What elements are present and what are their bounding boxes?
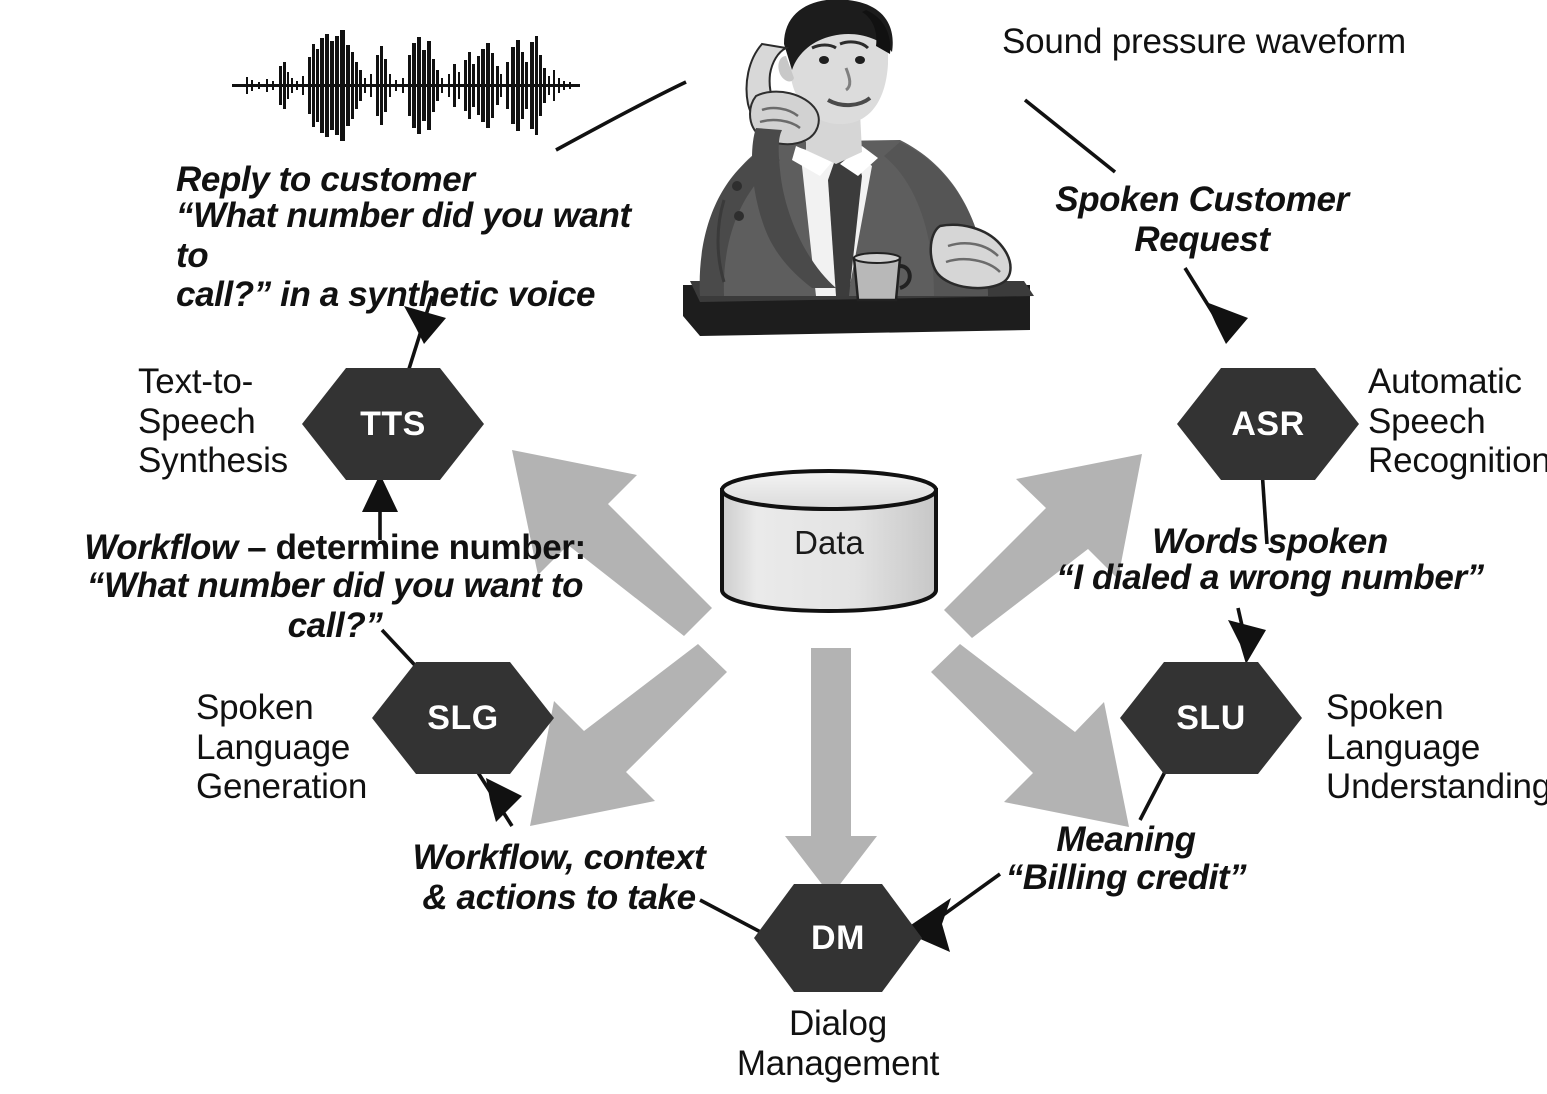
gray-arrow-data-to-slg bbox=[530, 644, 727, 826]
label-reply-to-customer-title: Reply to customer bbox=[176, 160, 646, 200]
caption-dm: Dialog Management bbox=[688, 1004, 988, 1083]
leader-meaning-to-dm bbox=[925, 874, 1000, 928]
workflow-keyword: Workflow bbox=[84, 528, 238, 567]
caption-slu: Spoken Language Understanding bbox=[1326, 688, 1541, 807]
label-meaning-body: “Billing credit” bbox=[1000, 858, 1252, 898]
node-slu[interactable]: SLU bbox=[1118, 660, 1304, 776]
node-label-tts: TTS bbox=[360, 405, 426, 444]
label-workflow-determine-number-title: Workflow – determine number: bbox=[40, 528, 630, 568]
node-slg[interactable]: SLG bbox=[370, 660, 556, 776]
node-label-dm: DM bbox=[811, 919, 865, 958]
node-label-asr: ASR bbox=[1231, 405, 1304, 444]
audio-waveform-icon bbox=[232, 30, 580, 141]
caption-slg: Spoken Language Generation bbox=[196, 688, 376, 807]
label-workflow-determine-number-body: “What number did you want to call?” bbox=[40, 566, 630, 645]
node-label-slu: SLU bbox=[1176, 699, 1246, 738]
caption-tts: Text-to- Speech Synthesis bbox=[138, 362, 308, 481]
label-meaning-title: Meaning bbox=[1000, 820, 1252, 860]
arrowhead-into-slg bbox=[486, 778, 522, 822]
arrowhead-into-asr bbox=[1206, 302, 1248, 344]
label-sound-pressure-waveform: Sound pressure waveform bbox=[1002, 22, 1422, 62]
node-asr[interactable]: ASR bbox=[1175, 366, 1361, 482]
leader-waveform-to-person bbox=[556, 82, 686, 150]
label-words-spoken-title: Words spoken bbox=[1010, 522, 1530, 562]
label-workflow-context-actions: Workflow, context & actions to take bbox=[406, 838, 712, 917]
label-words-spoken-body: “I dialed a wrong number” bbox=[1010, 558, 1530, 598]
gray-arrow-data-to-dm bbox=[785, 648, 877, 896]
caption-asr: Automatic Speech Recognition bbox=[1368, 362, 1547, 481]
diagram-canvas: Data TTS ASR SLG SLU DM Sound bbox=[0, 0, 1547, 1094]
node-dm[interactable]: DM bbox=[752, 882, 924, 994]
node-tts[interactable]: TTS bbox=[300, 366, 486, 482]
node-label-slg: SLG bbox=[427, 699, 498, 738]
label-spoken-customer-request: Spoken Customer Request bbox=[1032, 180, 1372, 259]
label-reply-to-customer-body: “What number did you want to call?” in a… bbox=[176, 196, 656, 315]
person-on-phone-icon bbox=[683, 0, 1034, 336]
workflow-dash-text: – determine number: bbox=[238, 528, 586, 567]
leader-request-to-asr bbox=[1185, 268, 1226, 334]
leader-soundpressure-to-person bbox=[1025, 100, 1115, 172]
arrowhead-into-slu bbox=[1228, 620, 1266, 664]
data-store-label: Data bbox=[718, 524, 940, 562]
leader-wordsspoken-to-slu bbox=[1238, 608, 1248, 652]
database-cylinder: Data bbox=[718, 468, 940, 613]
gray-arrow-data-to-slu bbox=[931, 644, 1129, 827]
